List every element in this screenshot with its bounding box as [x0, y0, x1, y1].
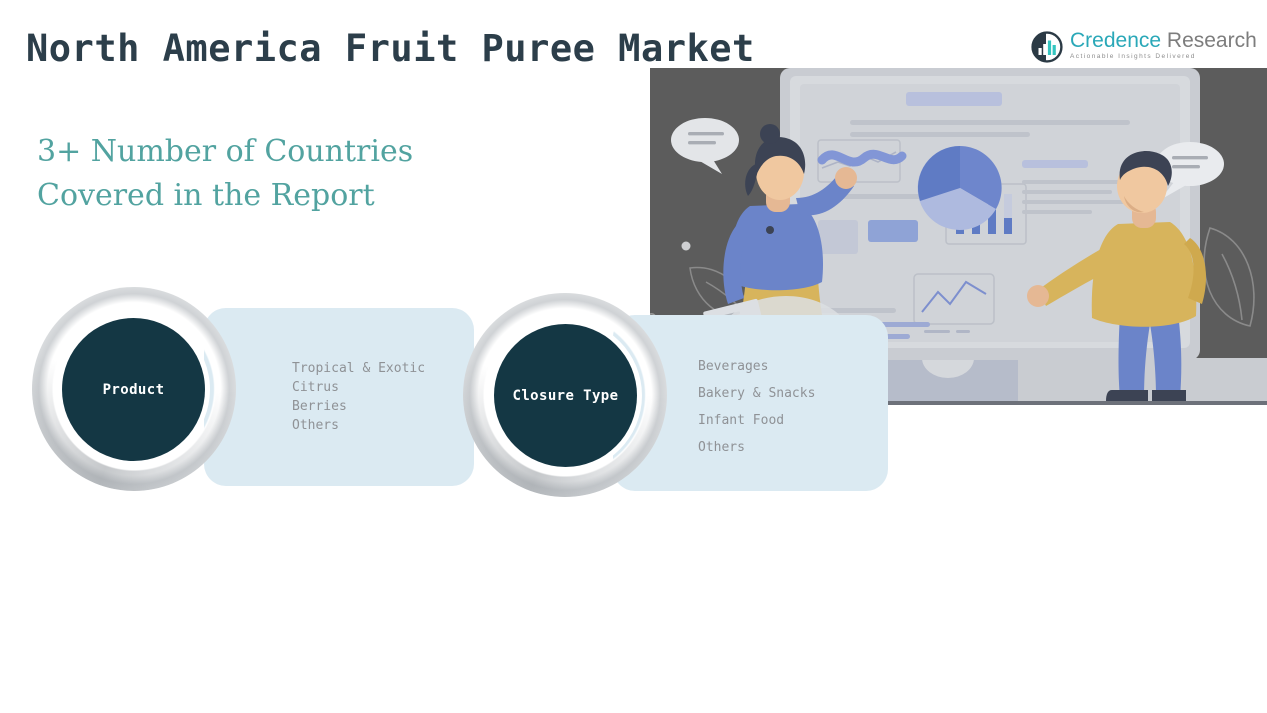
segment-closure-type-items: Beverages Bakery & Snacks Infant Food Ot…: [698, 353, 815, 461]
subtitle-countries-covered: 3+ Number of Countries Covered in the Re…: [37, 130, 413, 218]
segment-closure-type-label[interactable]: Closure Type: [494, 324, 637, 467]
brand-tagline: Actionable Insights Delivered: [1070, 53, 1257, 60]
brand-name-primary: Credence: [1070, 29, 1161, 52]
brand-logo: Credence Research Actionable Insights De…: [1031, 29, 1257, 63]
segment-product[interactable]: Product Tropical & Exotic Citrus Berries…: [32, 287, 482, 491]
segment-product-items: Tropical & Exotic Citrus Berries Others: [292, 359, 425, 435]
bar-chart-circle-icon: [1031, 31, 1063, 63]
segment-closure-type[interactable]: Closure Type Beverages Bakery & Snacks I…: [463, 293, 913, 497]
brand-name: Credence Research: [1070, 29, 1257, 52]
brand-name-secondary: Research: [1161, 29, 1257, 52]
segment-product-label[interactable]: Product: [62, 318, 205, 461]
page-title: North America Fruit Puree Market: [26, 27, 755, 70]
